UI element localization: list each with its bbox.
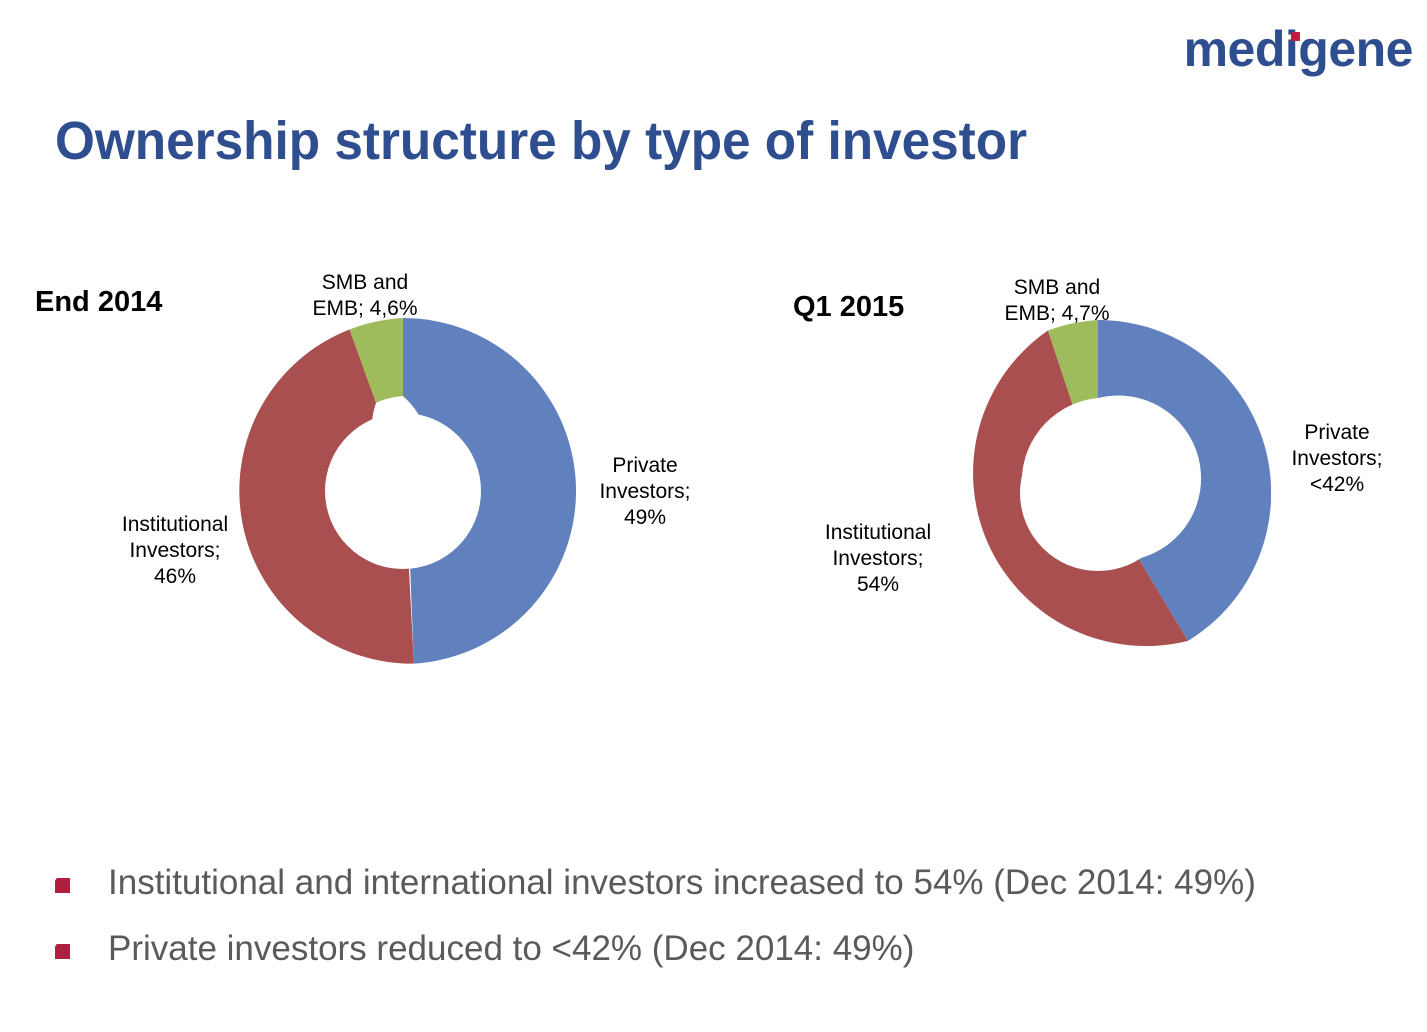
donut-svg-2 <box>925 320 1271 666</box>
bullet-list: Institutional and international investor… <box>55 862 1375 994</box>
chart-2-heading: Q1 2015 <box>793 291 904 324</box>
chart-2-label-private: Private Investors; <42% <box>1262 420 1412 498</box>
chart-end-2014: End 2014 SMB and EMB; 4,6% Private Inves… <box>0 250 700 720</box>
donut-hole-2 <box>1020 415 1176 571</box>
bullet-text-1: Institutional and international investor… <box>108 862 1256 904</box>
chart-1-label-smb-emb: SMB and EMB; 4,6% <box>290 270 440 322</box>
chart-2-label-smb-emb: SMB and EMB; 4,7% <box>982 275 1132 327</box>
donut-chart-end-2014 <box>230 318 576 664</box>
list-item: Institutional and international investor… <box>55 862 1375 904</box>
donut-hole-1 <box>325 413 481 569</box>
chart-1-label-institutional: Institutional Investors; 46% <box>95 512 255 590</box>
list-item: Private investors reduced to <42% (Dec 2… <box>55 928 1375 970</box>
page-title: Ownership structure by type of investor <box>55 110 1027 172</box>
logo-i-dot <box>1291 32 1300 41</box>
chart-q1-2015: Q1 2015 SMB and EMB; 4,7% Private Invest… <box>700 250 1400 720</box>
logo-wordmark: medigene <box>1184 21 1413 77</box>
donut-svg-1 <box>230 318 576 664</box>
bullet-square-icon <box>55 878 70 893</box>
chart-2-label-institutional: Institutional Investors; 54% <box>798 520 958 598</box>
chart-1-label-private: Private Investors; 49% <box>570 453 720 531</box>
chart-1-heading: End 2014 <box>35 286 162 319</box>
bullet-square-icon <box>55 944 70 959</box>
bullet-text-2: Private investors reduced to <42% (Dec 2… <box>108 928 914 970</box>
donut-chart-q1-2015 <box>925 320 1271 666</box>
medigene-logo: medigene <box>1184 24 1413 74</box>
